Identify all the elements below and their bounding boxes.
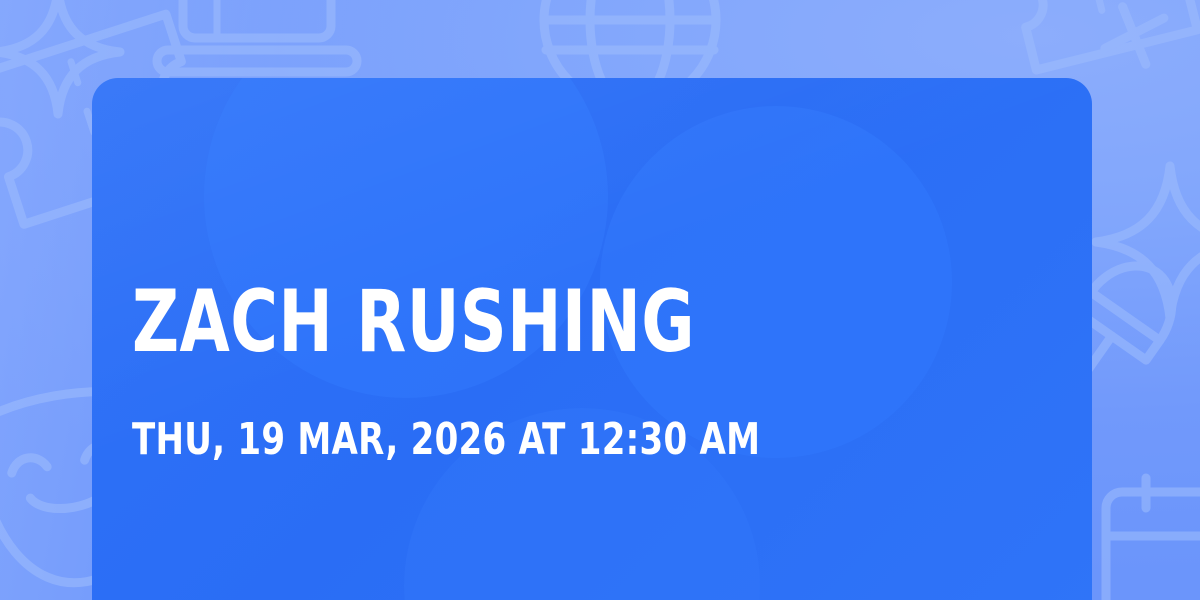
event-card: ZACH RUSHING THU, 19 MAR, 2026 AT 12:30 … xyxy=(92,78,1092,600)
event-banner: ZACH RUSHING THU, 19 MAR, 2026 AT 12:30 … xyxy=(0,0,1200,600)
page-title: ZACH RUSHING xyxy=(132,274,695,370)
event-card-content: ZACH RUSHING THU, 19 MAR, 2026 AT 12:30 … xyxy=(132,78,1052,600)
event-datetime: THU, 19 MAR, 2026 AT 12:30 AM xyxy=(132,414,760,466)
